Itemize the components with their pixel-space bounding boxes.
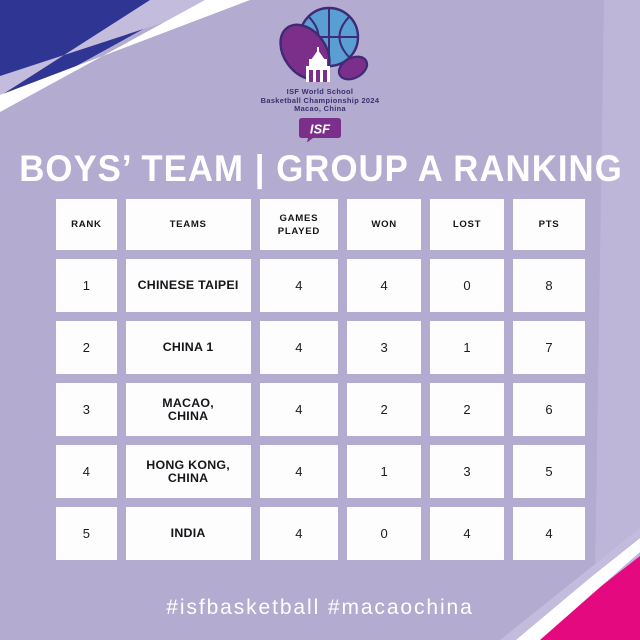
svg-text:ISF: ISF xyxy=(310,121,331,136)
cell-pts: 5 xyxy=(513,445,585,498)
isf-badge: ISF xyxy=(230,117,410,143)
cell-games-played: 4 xyxy=(260,445,339,498)
cell-pts: 4 xyxy=(513,507,585,560)
cell-lost: 0 xyxy=(430,259,504,312)
ranking-table: RANK TEAMS GAMES PLAYED WON LOST PTS 1 C… xyxy=(56,199,585,560)
cell-pts: 6 xyxy=(513,383,585,436)
cell-team: HONG KONG, CHINA xyxy=(126,445,251,498)
event-logo: ISF World School Basketball Championship… xyxy=(230,4,410,143)
column-header-lost: LOST xyxy=(430,199,504,250)
column-header-teams: TEAMS xyxy=(126,199,251,250)
cell-won: 0 xyxy=(347,507,421,560)
cell-won: 1 xyxy=(347,445,421,498)
column-header-games-played: GAMES PLAYED xyxy=(260,199,339,250)
logo-line-3: Macao, China xyxy=(230,105,410,114)
hashtags: #isfbasketball #macaochina xyxy=(0,596,640,620)
ranking-poster: ISF World School Basketball Championship… xyxy=(0,0,640,640)
cell-lost: 4 xyxy=(430,507,504,560)
cell-lost: 3 xyxy=(430,445,504,498)
cell-team: MACAO, CHINA xyxy=(126,383,251,436)
cell-pts: 8 xyxy=(513,259,585,312)
column-header-rank: RANK xyxy=(56,199,117,250)
cell-games-played: 4 xyxy=(260,321,339,374)
cell-team: CHINESE TAIPEI xyxy=(126,259,251,312)
cell-games-played: 4 xyxy=(260,507,339,560)
cell-team: INDIA xyxy=(126,507,251,560)
table-row: 2 CHINA 1 4 3 1 7 xyxy=(56,321,585,374)
cell-games-played: 4 xyxy=(260,259,339,312)
table-header-row: RANK TEAMS GAMES PLAYED WON LOST PTS xyxy=(56,199,585,250)
cell-rank: 3 xyxy=(56,383,117,436)
cell-rank: 1 xyxy=(56,259,117,312)
cell-games-played: 4 xyxy=(260,383,339,436)
page-title: BOYS’ TEAM | GROUP A RANKING xyxy=(19,149,621,189)
column-header-won: WON xyxy=(347,199,421,250)
cell-pts: 7 xyxy=(513,321,585,374)
cell-lost: 1 xyxy=(430,321,504,374)
column-header-pts: PTS xyxy=(513,199,585,250)
cell-lost: 2 xyxy=(430,383,504,436)
table-row: 1 CHINESE TAIPEI 4 4 0 8 xyxy=(56,259,585,312)
cell-rank: 5 xyxy=(56,507,117,560)
cell-won: 3 xyxy=(347,321,421,374)
isf-badge-icon: ISF xyxy=(297,117,343,143)
cell-won: 2 xyxy=(347,383,421,436)
isf-macao-basketball-logo-icon xyxy=(268,4,372,88)
cell-rank: 4 xyxy=(56,445,117,498)
cell-rank: 2 xyxy=(56,321,117,374)
cell-team: CHINA 1 xyxy=(126,321,251,374)
cell-won: 4 xyxy=(347,259,421,312)
table-row: 5 INDIA 4 0 4 4 xyxy=(56,507,585,560)
table-row: 3 MACAO, CHINA 4 2 2 6 xyxy=(56,383,585,436)
table-row: 4 HONG KONG, CHINA 4 1 3 5 xyxy=(56,445,585,498)
